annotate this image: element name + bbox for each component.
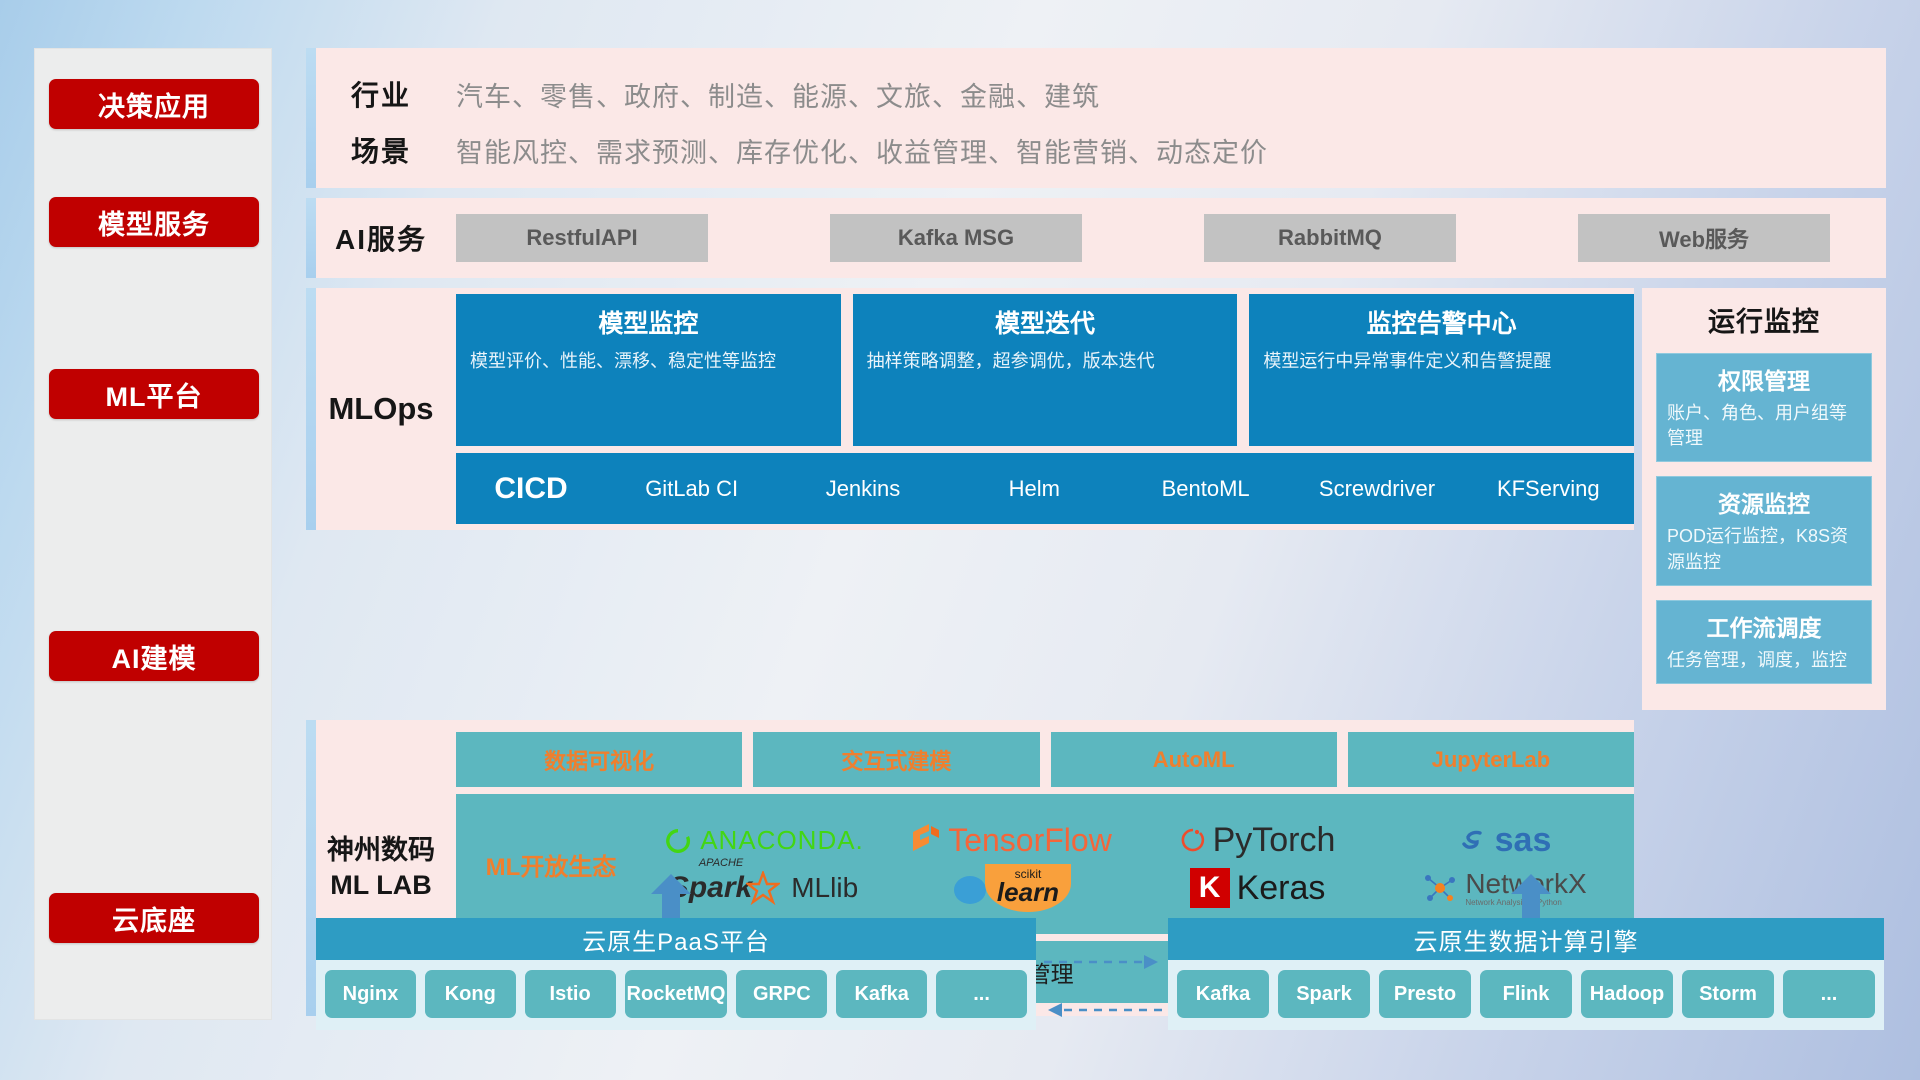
card-title: 工作流调度 [1667, 609, 1861, 643]
compute-title: 云原生数据计算引擎 [1168, 918, 1884, 960]
spark-apache-text: APACHE [699, 857, 743, 869]
compute-chip-more[interactable]: ... [1783, 970, 1875, 1018]
tensorflow-mark-icon [909, 824, 941, 858]
rail-badge-label: 云底座 [112, 899, 196, 938]
rail-badge-decision-apps[interactable]: 决策应用 [49, 79, 259, 129]
band-edge [306, 198, 316, 278]
ai-service-box-rabbitmq[interactable]: RabbitMQ [1204, 214, 1456, 262]
ml-lab-tab-interactive-modeling[interactable]: 交互式建模 [753, 732, 1039, 787]
paas-chip-kafka[interactable]: Kafka [836, 970, 927, 1018]
ai-service-label: AI服务 [306, 218, 456, 258]
ml-lab-label-line1: 神州数码 [306, 833, 456, 868]
mlops-band: MLOps 模型监控 模型评价、性能、漂移、稳定性等监控 模型迭代 抽样策略调整… [306, 288, 1634, 530]
cicd-item-kfserving[interactable]: KFServing [1463, 476, 1634, 501]
ai-service-box-restfulapi[interactable]: RestfulAPI [456, 214, 708, 262]
monitoring-card-resources[interactable]: 资源监控 POD运行监控，K8S资源监控 [1656, 476, 1872, 585]
card-title: 模型迭代 [867, 304, 1224, 340]
compute-chip-presto[interactable]: Presto [1379, 970, 1471, 1018]
pytorch-wordmark: PyTorch [1213, 821, 1336, 860]
scenario-label: 场景 [306, 130, 456, 170]
industry-value: 汽车、零售、政府、制造、能源、文旅、金融、建筑 [456, 75, 1100, 114]
cicd-item-list: GitLab CI Jenkins Helm BentoML Screwdriv… [606, 476, 1634, 501]
rail-badge-model-service[interactable]: 模型服务 [49, 197, 259, 247]
paas-stack: 云原生PaaS平台 Nginx Kong Istio RocketMQ GRPC… [316, 918, 1036, 1030]
card-desc: 任务管理，调度，监控 [1667, 648, 1861, 673]
paas-chip-rocketmq[interactable]: RocketMQ [625, 970, 728, 1018]
compute-chip-kafka[interactable]: Kafka [1177, 970, 1269, 1018]
cicd-item-gitlab-ci[interactable]: GitLab CI [606, 476, 777, 501]
monitoring-title: 运行监控 [1656, 300, 1872, 339]
mlops-card-model-monitoring[interactable]: 模型监控 模型评价、性能、漂移、稳定性等监控 [456, 294, 841, 446]
monitoring-card-permissions[interactable]: 权限管理 账户、角色、用户组等管理 [1656, 353, 1872, 462]
rail-badge-cloud-foundation[interactable]: 云底座 [49, 893, 259, 943]
sas-mark-icon [1458, 826, 1488, 856]
scenario-row: 场景 智能风控、需求预测、库存优化、收益管理、智能营销、动态定价 [306, 122, 1886, 178]
band-edge [306, 288, 316, 530]
mlops-card-model-iteration[interactable]: 模型迭代 抽样策略调整，超参调优，版本迭代 [853, 294, 1238, 446]
decision-apps-band: 行业 汽车、零售、政府、制造、能源、文旅、金融、建筑 场景 智能风控、需求预测、… [306, 48, 1886, 188]
mlops-content: 模型监控 模型评价、性能、漂移、稳定性等监控 模型迭代 抽样策略调整，超参调优，… [456, 294, 1634, 524]
compute-chip-list: Kafka Spark Presto Flink Hadoop Storm ..… [1168, 960, 1884, 1030]
paas-chip-list: Nginx Kong Istio RocketMQ GRPC Kafka ... [316, 960, 1036, 1030]
mlops-section: MLOps 模型监控 模型评价、性能、漂移、稳定性等监控 模型迭代 抽样策略调整… [306, 288, 1886, 710]
mlops-card-list: 模型监控 模型评价、性能、漂移、稳定性等监控 模型迭代 抽样策略调整，超参调优，… [456, 294, 1634, 446]
cicd-bar: CICD GitLab CI Jenkins Helm BentoML Scre… [456, 453, 1634, 524]
card-title: 模型监控 [470, 304, 827, 340]
arrow-up-compute-icon [1511, 874, 1551, 918]
rail-badge-ai-modeling[interactable]: AI建模 [49, 631, 259, 681]
ai-service-box-list: RestfulAPI Kafka MSG RabbitMQ Web服务 [456, 214, 1886, 262]
card-title: 权限管理 [1667, 362, 1861, 396]
cloud-foundation-section: 云原生PaaS平台 Nginx Kong Istio RocketMQ GRPC… [306, 880, 1886, 1040]
main-column: 行业 汽车、零售、政府、制造、能源、文旅、金融、建筑 场景 智能风控、需求预测、… [306, 48, 1886, 1016]
compute-chip-storm[interactable]: Storm [1682, 970, 1774, 1018]
rail-badge-ml-platform[interactable]: ML平台 [49, 369, 259, 419]
sas-logo: sas [1381, 821, 1628, 860]
paas-chip-istio[interactable]: Istio [525, 970, 616, 1018]
tensorflow-logo: TensorFlow [887, 822, 1134, 859]
industry-label: 行业 [306, 74, 456, 114]
paas-chip-grpc[interactable]: GRPC [736, 970, 827, 1018]
sas-wordmark: sas [1495, 821, 1552, 860]
card-desc: 账户、角色、用户组等管理 [1667, 401, 1861, 451]
cicd-item-bentoml[interactable]: BentoML [1120, 476, 1291, 501]
scenario-value: 智能风控、需求预测、库存优化、收益管理、智能营销、动态定价 [456, 131, 1268, 170]
anaconda-logo: ANACONDA. [640, 825, 887, 856]
compute-chip-spark[interactable]: Spark [1278, 970, 1370, 1018]
ai-service-band: AI服务 RestfulAPI Kafka MSG RabbitMQ Web服务 [306, 198, 1886, 278]
ai-service-box-web[interactable]: Web服务 [1578, 214, 1830, 262]
mlops-label: MLOps [306, 391, 456, 427]
paas-chip-more[interactable]: ... [936, 970, 1027, 1018]
monitoring-card-workflow[interactable]: 工作流调度 任务管理，调度，监控 [1656, 600, 1872, 684]
layer-rail: 决策应用 模型服务 ML平台 AI建模 云底座 [34, 48, 272, 1020]
compute-chip-flink[interactable]: Flink [1480, 970, 1572, 1018]
compute-stack: 云原生数据计算引擎 Kafka Spark Presto Flink Hadoo… [1168, 918, 1884, 1030]
ml-lab-tab-jupyterlab[interactable]: JupyterLab [1348, 732, 1634, 787]
industry-row: 行业 汽车、零售、政府、制造、能源、文旅、金融、建筑 [306, 66, 1886, 122]
tensorflow-wordmark: TensorFlow [948, 822, 1112, 859]
ml-lab-tab-automl[interactable]: AutoML [1051, 732, 1337, 787]
anaconda-wordmark: ANACONDA. [700, 825, 864, 856]
paas-title: 云原生PaaS平台 [316, 918, 1036, 960]
card-title: 监控告警中心 [1263, 304, 1620, 340]
card-desc: POD运行监控，K8S资源监控 [1667, 524, 1861, 574]
monitoring-column: 运行监控 权限管理 账户、角色、用户组等管理 资源监控 POD运行监控，K8S资… [1642, 288, 1886, 710]
pytorch-mark-icon [1180, 826, 1206, 856]
cicd-title: CICD [456, 472, 606, 506]
cicd-item-jenkins[interactable]: Jenkins [777, 476, 948, 501]
ai-service-box-kafka-msg[interactable]: Kafka MSG [830, 214, 1082, 262]
architecture-diagram: 决策应用 模型服务 ML平台 AI建模 云底座 行业 汽车、零售、政府、制造、能… [0, 0, 1920, 1080]
ml-lab-tab-list: 数据可视化 交互式建模 AutoML JupyterLab [456, 732, 1634, 787]
ml-lab-tab-data-visualization[interactable]: 数据可视化 [456, 732, 742, 787]
rail-badge-label: AI建模 [112, 637, 197, 676]
paas-chip-nginx[interactable]: Nginx [325, 970, 416, 1018]
mlops-card-alert-center[interactable]: 监控告警中心 模型运行中异常事件定义和告警提醒 [1249, 294, 1634, 446]
cicd-item-helm[interactable]: Helm [949, 476, 1120, 501]
card-desc: 模型运行中异常事件定义和告警提醒 [1263, 348, 1620, 374]
paas-chip-kong[interactable]: Kong [425, 970, 516, 1018]
bidirectional-link-icons [1044, 938, 1164, 1038]
ml-ecosystem-label: ML开放生态 [462, 847, 640, 882]
rail-badge-label: 模型服务 [98, 203, 210, 242]
band-edge [306, 48, 316, 188]
pytorch-logo: PyTorch [1134, 821, 1381, 860]
cicd-item-screwdriver[interactable]: Screwdriver [1291, 476, 1462, 501]
card-desc: 抽样策略调整，超参调优，版本迭代 [867, 348, 1224, 374]
card-title: 资源监控 [1667, 485, 1861, 519]
rail-badge-label: ML平台 [106, 375, 203, 414]
card-desc: 模型评价、性能、漂移、稳定性等监控 [470, 348, 827, 374]
anaconda-mark-icon [663, 826, 693, 856]
arrow-up-paas-icon [651, 874, 691, 918]
compute-chip-hadoop[interactable]: Hadoop [1581, 970, 1673, 1018]
rail-badge-label: 决策应用 [98, 85, 210, 124]
